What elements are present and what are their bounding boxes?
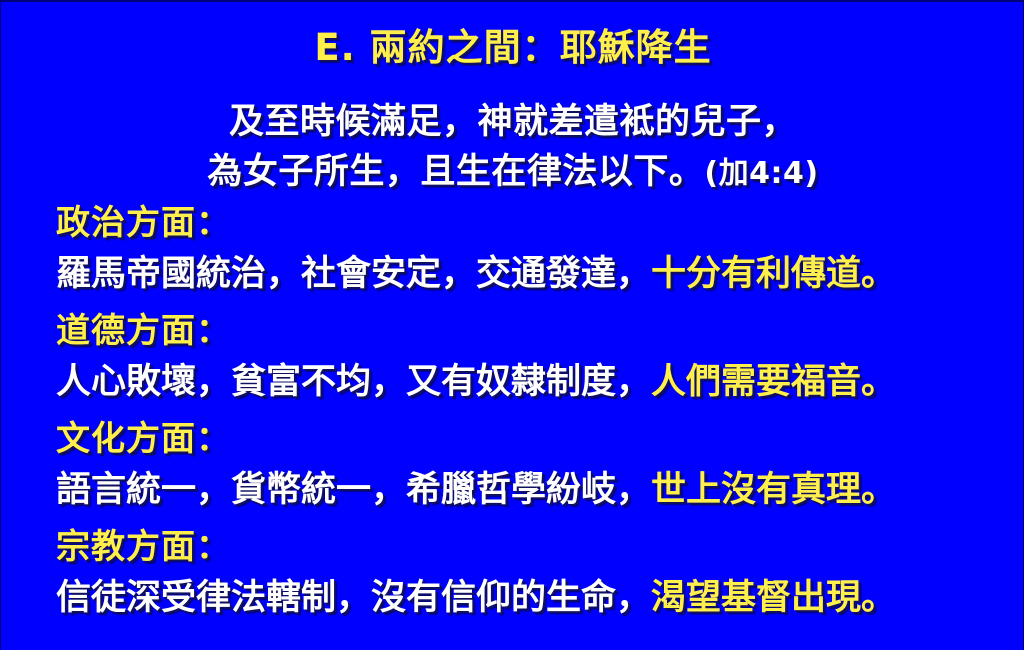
section-heading: 道德方面： xyxy=(56,306,1016,357)
section-heading: 文化方面： xyxy=(56,414,1016,465)
section-heading: 政治方面： xyxy=(56,198,1016,249)
section-heading: 宗教方面： xyxy=(56,522,1016,573)
scripture-line-1: 及至時候滿足，神就差遣袛的兒子， xyxy=(1,98,1024,148)
section-moral: 道德方面： 人心敗壞，貧富不均，又有奴隸制度，人們需要福音。 xyxy=(56,306,1016,408)
section-body-highlight-part: 十分有利傳道。 xyxy=(651,254,896,294)
scripture-reference: (加4:4) xyxy=(704,156,818,191)
section-body: 語言統一，貨幣統一，希臘哲學紛岐，世上沒有真理。 xyxy=(56,465,1016,516)
section-body: 羅馬帝國統治，社會安定，交通發達，十分有利傳道。 xyxy=(56,249,1016,300)
scripture-quote-block: 及至時候滿足，神就差遣袛的兒子， 為女子所生，且生在律法以下。(加4:4) xyxy=(1,98,1024,197)
section-body-highlight-part: 人們需要福音。 xyxy=(651,362,896,402)
section-body-highlight-part: 世上沒有真理。 xyxy=(651,470,896,510)
scripture-line-2: 為女子所生，且生在律法以下。(加4:4) xyxy=(1,148,1024,198)
section-political: 政治方面： 羅馬帝國統治，社會安定，交通發達，十分有利傳道。 xyxy=(56,198,1016,300)
sections-list: 政治方面： 羅馬帝國統治，社會安定，交通發達，十分有利傳道。 道德方面： 人心敗… xyxy=(56,198,1016,630)
section-body: 人心敗壞，貧富不均，又有奴隸制度，人們需要福音。 xyxy=(56,357,1016,408)
section-body-white-part: 信徒深受律法轄制，沒有信仰的生命， xyxy=(56,578,651,618)
section-religious: 宗教方面： 信徒深受律法轄制，沒有信仰的生命，渴望基督出現。 xyxy=(56,522,1016,624)
presentation-slide: E. 兩約之間：耶穌降生 及至時候滿足，神就差遣袛的兒子， 為女子所生，且生在律… xyxy=(0,0,1024,650)
section-body: 信徒深受律法轄制，沒有信仰的生命，渴望基督出現。 xyxy=(56,573,1016,624)
section-body-white-part: 人心敗壞，貧富不均，又有奴隸制度， xyxy=(56,362,651,402)
section-body-white-part: 羅馬帝國統治，社會安定，交通發達， xyxy=(56,254,651,294)
section-cultural: 文化方面： 語言統一，貨幣統一，希臘哲學紛岐，世上沒有真理。 xyxy=(56,414,1016,516)
section-body-white-part: 語言統一，貨幣統一，希臘哲學紛岐， xyxy=(56,470,651,510)
page-title: E. 兩約之間：耶穌降生 xyxy=(1,28,1024,69)
scripture-line-2-text: 為女子所生，且生在律法以下。 xyxy=(207,152,704,192)
slide-title-block: E. 兩約之間：耶穌降生 xyxy=(1,28,1024,69)
section-body-highlight-part: 渴望基督出現。 xyxy=(651,578,896,618)
